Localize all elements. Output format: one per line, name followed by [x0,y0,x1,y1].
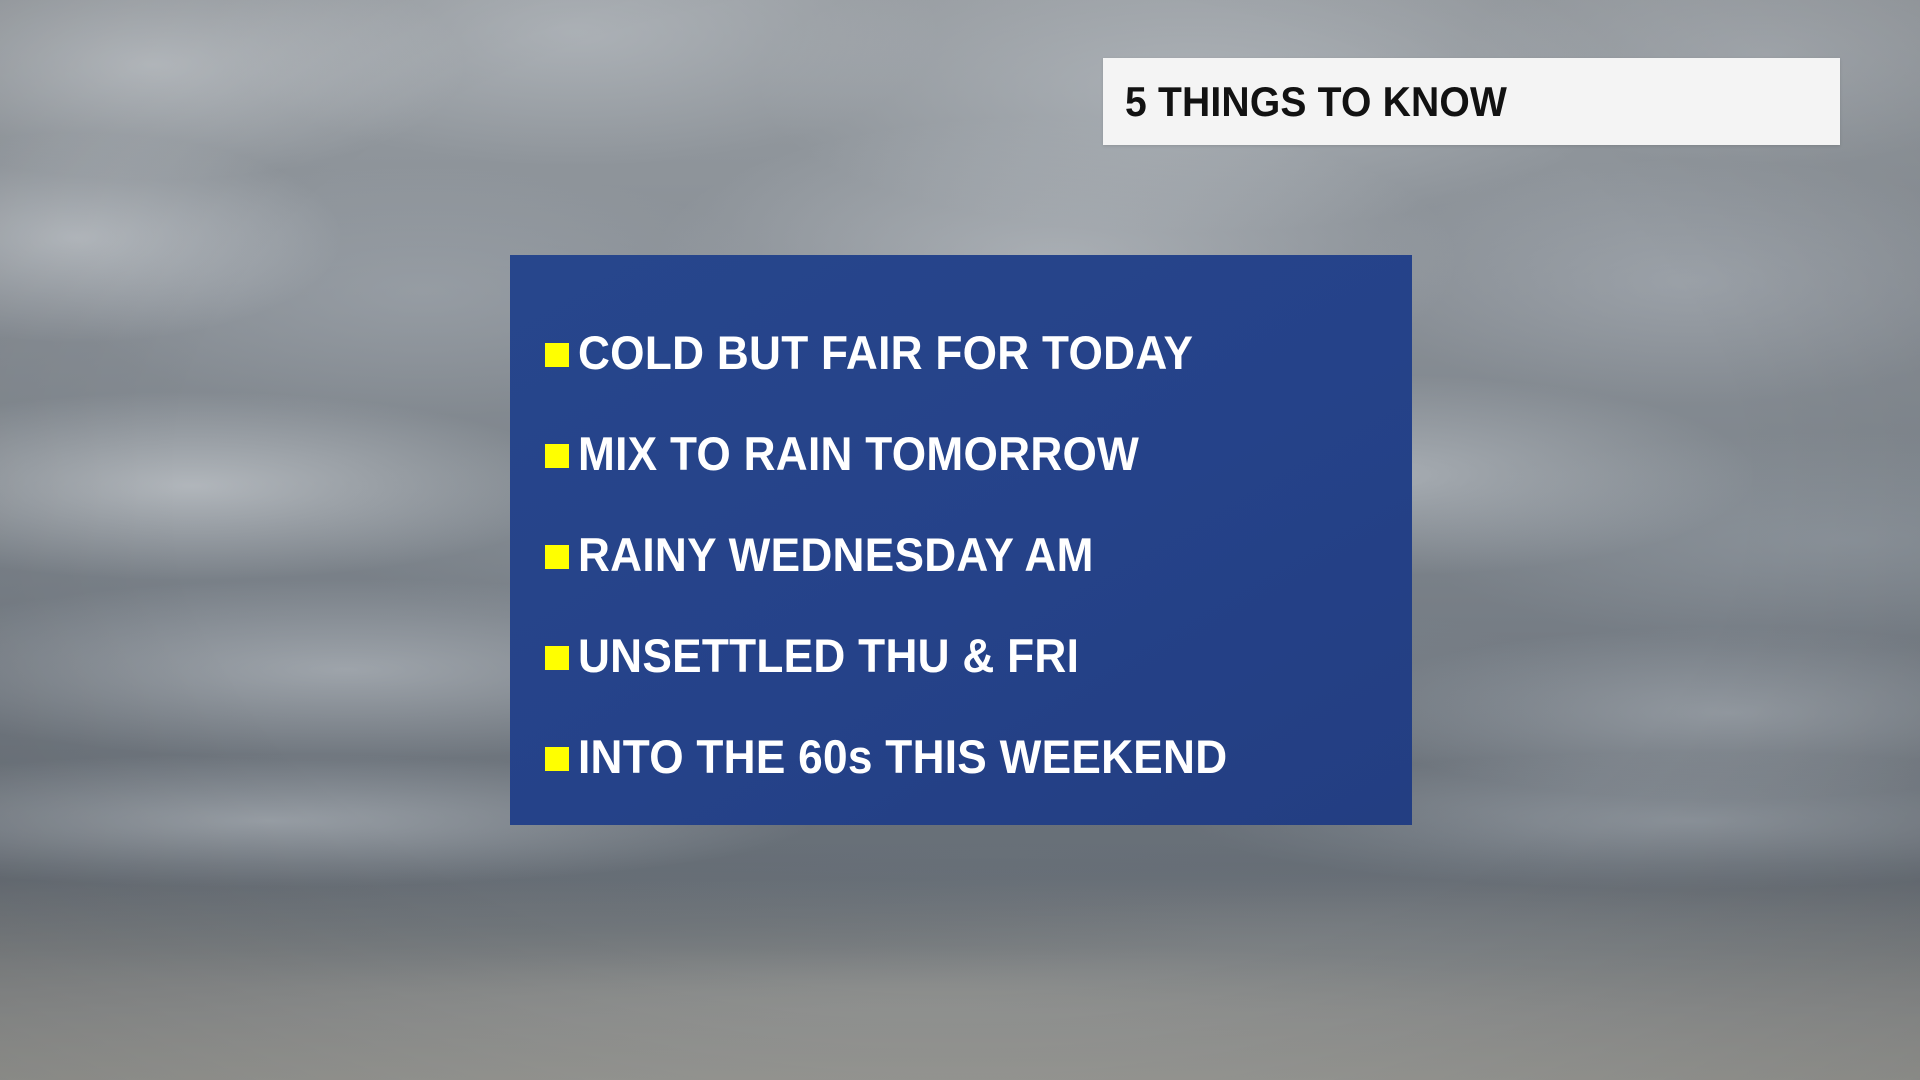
forecast-bullet-list: COLD BUT FAIR FOR TODAY MIX TO RAIN TOMO… [545,302,1405,807]
list-item-label: INTO THE 60s THIS WEEKEND [578,733,1227,780]
weather-graphic-stage: 5 THINGS TO KNOW COLD BUT FAIR FOR TODAY… [0,0,1920,1080]
list-item: COLD BUT FAIR FOR TODAY [545,302,1405,403]
list-item: MIX TO RAIN TOMORROW [545,403,1405,504]
list-item-label: RAINY WEDNESDAY AM [578,531,1094,578]
square-bullet-icon [545,646,569,670]
square-bullet-icon [545,444,569,468]
list-item-label: COLD BUT FAIR FOR TODAY [578,329,1193,376]
list-item-label: MIX TO RAIN TOMORROW [578,430,1139,477]
square-bullet-icon [545,747,569,771]
list-item: UNSETTLED THU & FRI [545,605,1405,706]
forecast-panel: COLD BUT FAIR FOR TODAY MIX TO RAIN TOMO… [510,255,1412,825]
header-bar: 5 THINGS TO KNOW [1103,58,1840,145]
list-item: INTO THE 60s THIS WEEKEND [545,706,1405,807]
list-item-label: UNSETTLED THU & FRI [578,632,1079,679]
square-bullet-icon [545,343,569,367]
page-title: 5 THINGS TO KNOW [1125,81,1507,123]
square-bullet-icon [545,545,569,569]
list-item: RAINY WEDNESDAY AM [545,504,1405,605]
